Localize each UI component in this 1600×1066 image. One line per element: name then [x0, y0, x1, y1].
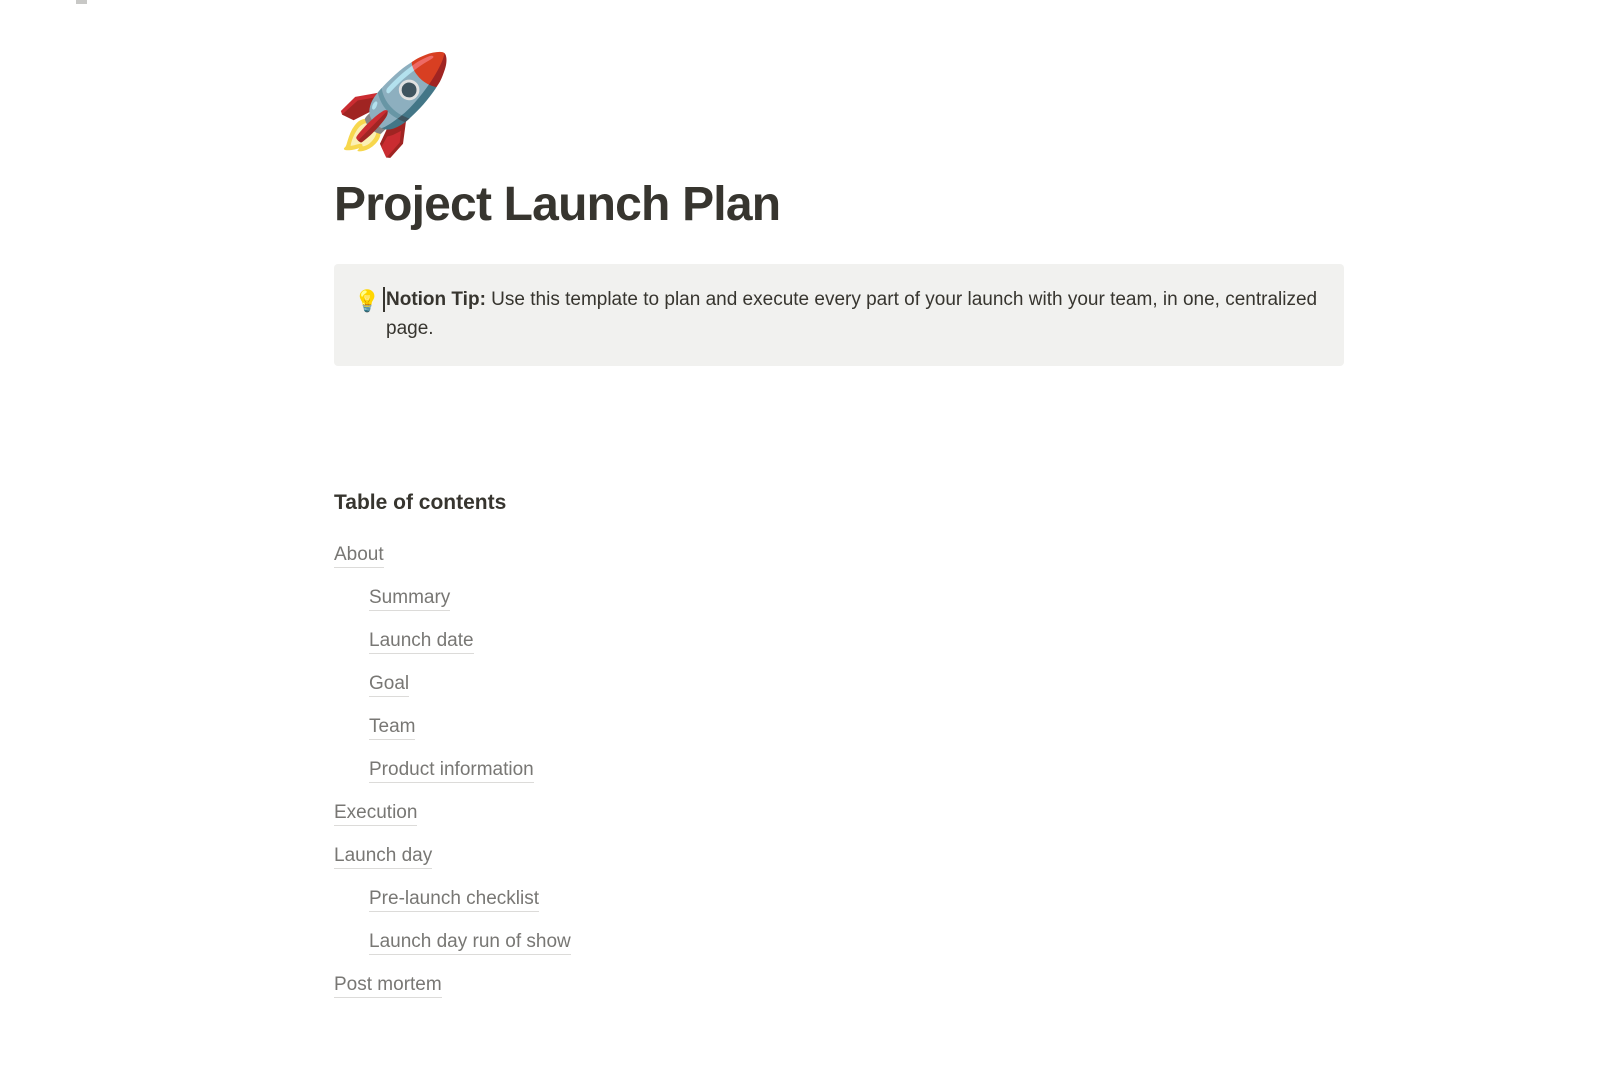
toc-link-launch-date[interactable]: Launch date: [369, 630, 474, 654]
toc-item-goal[interactable]: Goal: [334, 668, 1034, 711]
toc-link-pre-launch-checklist[interactable]: Pre-launch checklist: [369, 888, 539, 912]
rocket-emoji[interactable]: 🚀: [334, 56, 1344, 174]
page-title[interactable]: Project Launch Plan: [334, 174, 1344, 236]
toc-link-launch-day[interactable]: Launch day: [334, 845, 432, 869]
toc-link-post-mortem[interactable]: Post mortem: [334, 974, 442, 998]
toc-item-summary[interactable]: Summary: [334, 582, 1034, 625]
toc-item-execution[interactable]: Execution: [334, 797, 1034, 840]
toc-item-product-information[interactable]: Product information: [334, 754, 1034, 797]
toc-link-about[interactable]: About: [334, 544, 384, 568]
toc-item-launch-date[interactable]: Launch date: [334, 625, 1034, 668]
callout-strong-label: Notion Tip:: [386, 289, 486, 310]
callout-text[interactable]: Notion Tip: Use this template to plan an…: [386, 285, 1324, 344]
toc-item-about[interactable]: About: [334, 539, 1034, 582]
toc-item-post-mortem[interactable]: Post mortem: [334, 969, 1034, 1012]
callout-body-label: Use this template to plan and execute ev…: [386, 289, 1317, 339]
toc-item-launch-day[interactable]: Launch day: [334, 840, 1034, 883]
table-of-contents-heading: Table of contents: [334, 489, 506, 516]
toc-link-execution[interactable]: Execution: [334, 802, 417, 826]
cut-off-toolbar-artifact: [76, 0, 87, 4]
table-of-contents: About Summary Launch date Goal Team Prod…: [334, 539, 1034, 1012]
lightbulb-emoji[interactable]: 💡: [354, 285, 386, 318]
toc-link-launch-day-run-of-show[interactable]: Launch day run of show: [369, 931, 571, 955]
toc-link-goal[interactable]: Goal: [369, 673, 409, 697]
toc-link-product-information[interactable]: Product information: [369, 759, 534, 783]
toc-item-pre-launch-checklist[interactable]: Pre-launch checklist: [334, 883, 1034, 926]
toc-link-summary[interactable]: Summary: [369, 587, 450, 611]
toc-item-team[interactable]: Team: [334, 711, 1034, 754]
toc-item-launch-day-run-of-show[interactable]: Launch day run of show: [334, 926, 1034, 969]
document-page: 🚀 Project Launch Plan 💡 Notion Tip: Use …: [334, 0, 1344, 366]
toc-link-team[interactable]: Team: [369, 716, 415, 740]
callout-block[interactable]: 💡 Notion Tip: Use this template to plan …: [334, 264, 1344, 366]
